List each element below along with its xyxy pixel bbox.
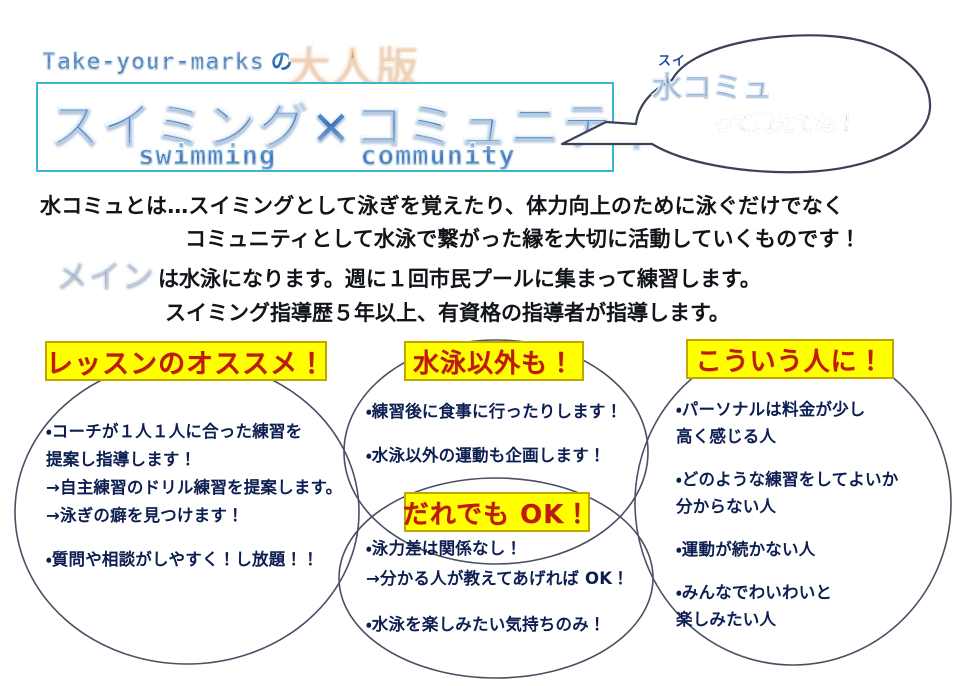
- bullet-item: 楽しみたい人: [676, 606, 946, 633]
- bullet-item: ・みんなでわいわいと: [676, 579, 946, 606]
- bullet-item: ・水泳を楽しみたい気持ちのみ！: [366, 610, 631, 640]
- bullets-forwho: ・パーソナルは料金が少し 高く感じる人 ・どのような練習をしてよいか 分からない…: [676, 396, 946, 633]
- bullet-item: ・運動が続かない人: [676, 536, 946, 563]
- bullet-item: ・コーチが１人１人に合った練習を: [46, 418, 346, 446]
- bullet-item: →分かる人が教えてあげれば OK！: [366, 564, 631, 594]
- bullet-item: →泳ぎの癖を見つけます！: [46, 502, 346, 530]
- bullet-item: 高く感じる人: [676, 423, 946, 450]
- bullets-lesson: ・コーチが１人１人に合った練習を 提案し指導します！ →自主練習のドリル練習を提…: [46, 418, 346, 574]
- bullet-item: ・水泳以外の運動も企画します！: [366, 442, 626, 470]
- bullets-anyone: ・泳力差は関係なし！ →分かる人が教えてあげれば OK！ ・水泳を楽しみたい気持…: [366, 534, 631, 640]
- label-other: 水泳以外も！: [404, 341, 584, 381]
- bullet-item: ・泳力差は関係なし！: [366, 534, 631, 564]
- label-forwho: こういう人に！: [686, 339, 894, 379]
- bullet-item: ・質問や相談がしやすく！し放題！！: [46, 546, 346, 574]
- bullet-item: →自主練習のドリル練習を提案します。: [46, 474, 346, 502]
- bullet-item: ・練習後に食事に行ったりします！: [366, 398, 626, 426]
- bullets-other: ・練習後に食事に行ったりします！ ・水泳以外の運動も企画します！: [366, 398, 626, 470]
- flyer-page: Take-your-marks の 大人版 スイミング×コミュニティ swimm…: [0, 0, 968, 686]
- bullet-item: 提案し指導します！: [46, 446, 346, 474]
- label-lesson: レッスンのオススメ！: [45, 341, 327, 381]
- bullet-item: 分からない人: [676, 493, 946, 520]
- bullet-item: ・どのような練習をしてよいか: [676, 466, 946, 493]
- label-anyone: だれでも OK！: [404, 492, 590, 532]
- bullet-item: ・パーソナルは料金が少し: [676, 396, 946, 423]
